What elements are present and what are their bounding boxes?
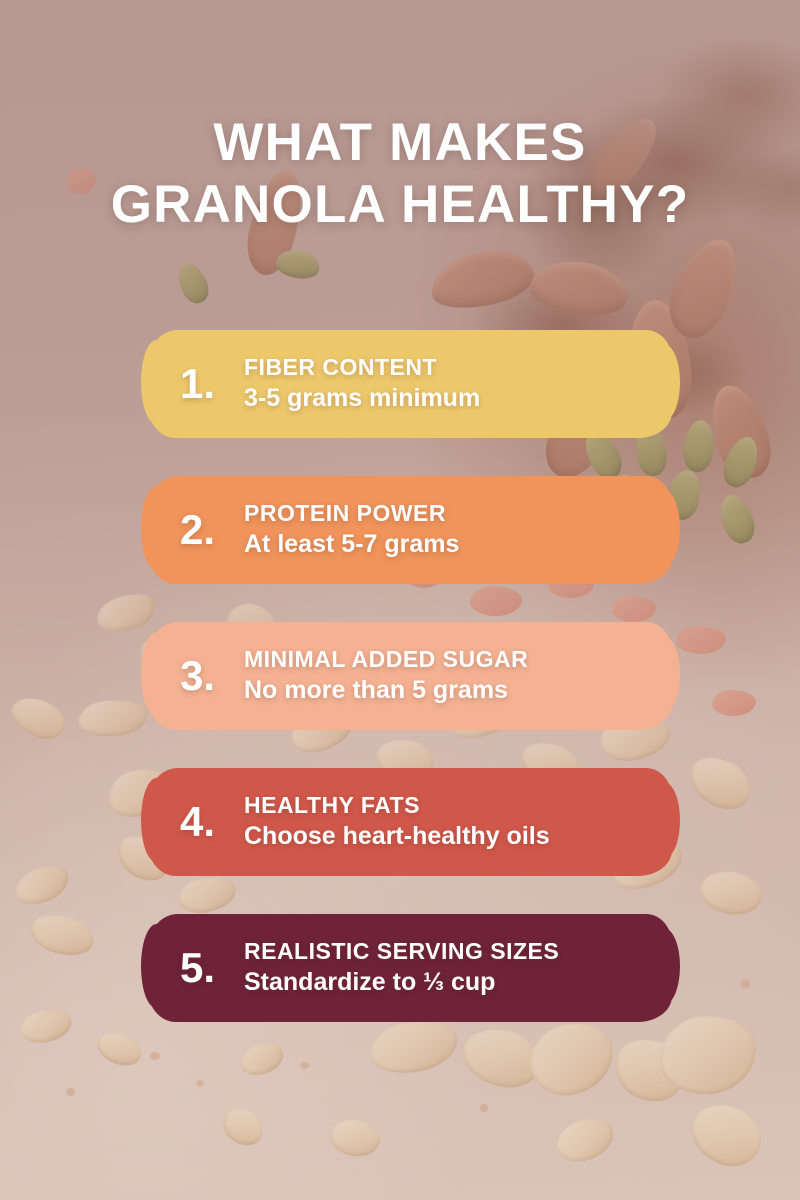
item-text: Protein Power At least 5-7 grams bbox=[244, 500, 654, 560]
item-number: 1. bbox=[170, 363, 244, 405]
title-line-1: What Makes bbox=[40, 112, 760, 174]
item-number: 4. bbox=[170, 801, 244, 843]
item-title: Protein Power bbox=[244, 500, 654, 526]
item-number: 3. bbox=[170, 655, 244, 697]
list-item: 4. Healthy Fats Choose heart-healthy oil… bbox=[148, 768, 672, 876]
item-title: Realistic Serving Sizes bbox=[244, 938, 654, 964]
item-subtitle: 3-5 grams minimum bbox=[244, 383, 654, 414]
list-item: 5. Realistic Serving Sizes Standardize t… bbox=[148, 914, 672, 1022]
list-item: 1. Fiber Content 3-5 grams minimum bbox=[148, 330, 672, 438]
tips-list: 1. Fiber Content 3-5 grams minimum 2. Pr… bbox=[148, 330, 672, 1060]
item-text: Minimal Added Sugar No more than 5 grams bbox=[244, 646, 654, 706]
item-number: 2. bbox=[170, 509, 244, 551]
item-text: Healthy Fats Choose heart-healthy oils bbox=[244, 792, 654, 852]
infographic-poster: What Makes Granola Healthy? 1. Fiber Con… bbox=[0, 0, 800, 1200]
list-item: 3. Minimal Added Sugar No more than 5 gr… bbox=[148, 622, 672, 730]
item-subtitle: Standardize to ⅓ cup bbox=[244, 967, 654, 998]
title-line-2: Granola Healthy? bbox=[40, 174, 760, 236]
item-subtitle: Choose heart-healthy oils bbox=[244, 821, 654, 852]
page-title: What Makes Granola Healthy? bbox=[0, 112, 800, 236]
item-title: Healthy Fats bbox=[244, 792, 654, 818]
item-subtitle: No more than 5 grams bbox=[244, 675, 654, 706]
list-item: 2. Protein Power At least 5-7 grams bbox=[148, 476, 672, 584]
item-text: Fiber Content 3-5 grams minimum bbox=[244, 354, 654, 414]
item-title: Fiber Content bbox=[244, 354, 654, 380]
item-subtitle: At least 5-7 grams bbox=[244, 529, 654, 560]
item-title: Minimal Added Sugar bbox=[244, 646, 654, 672]
item-number: 5. bbox=[170, 947, 244, 989]
item-text: Realistic Serving Sizes Standardize to ⅓… bbox=[244, 938, 654, 998]
